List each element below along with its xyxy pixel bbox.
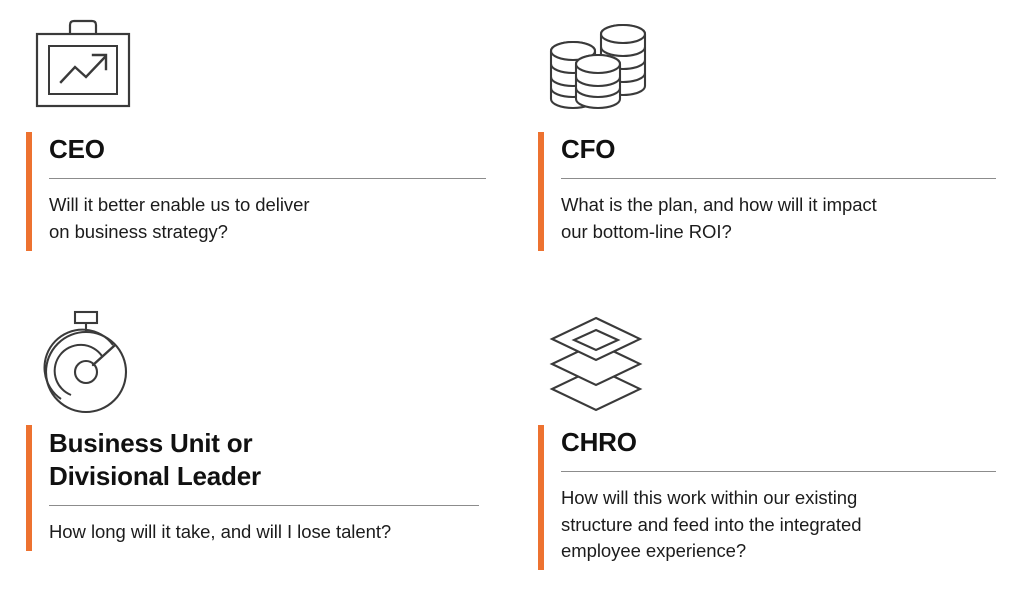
card-description: Will it better enable us to deliver on b…	[49, 192, 488, 245]
card-title: CFO	[561, 134, 1000, 165]
divider	[561, 471, 996, 472]
stopwatch-icon	[26, 310, 512, 415]
coin-stacks-icon	[538, 17, 1024, 122]
stacked-layers-icon	[538, 310, 1024, 415]
card-body: CEO Will it better enable us to deliver …	[26, 132, 512, 251]
divider	[49, 178, 486, 179]
card-business-unit-leader: Business Unit or Divisional Leader How l…	[0, 293, 512, 614]
briefcase-chart-icon	[26, 17, 512, 122]
card-cfo: CFO What is the plan, and how will it im…	[512, 0, 1024, 293]
card-chro: CHRO How will this work within our exist…	[512, 293, 1024, 614]
card-ceo: CEO Will it better enable us to deliver …	[0, 0, 512, 293]
card-body: Business Unit or Divisional Leader How l…	[26, 425, 512, 551]
divider	[561, 178, 996, 179]
card-title: Business Unit or Divisional Leader	[49, 427, 488, 492]
card-body: CFO What is the plan, and how will it im…	[538, 132, 1024, 251]
stakeholder-question-board: CEO Will it better enable us to deliver …	[0, 0, 1024, 614]
card-description: How long will it take, and will I lose t…	[49, 519, 488, 545]
card-title: CHRO	[561, 427, 1000, 458]
card-description: What is the plan, and how will it impact…	[561, 192, 1000, 245]
card-body: CHRO How will this work within our exist…	[538, 425, 1024, 570]
card-description: How will this work within our existing s…	[561, 485, 1000, 564]
divider	[49, 505, 479, 506]
card-title: CEO	[49, 134, 488, 165]
